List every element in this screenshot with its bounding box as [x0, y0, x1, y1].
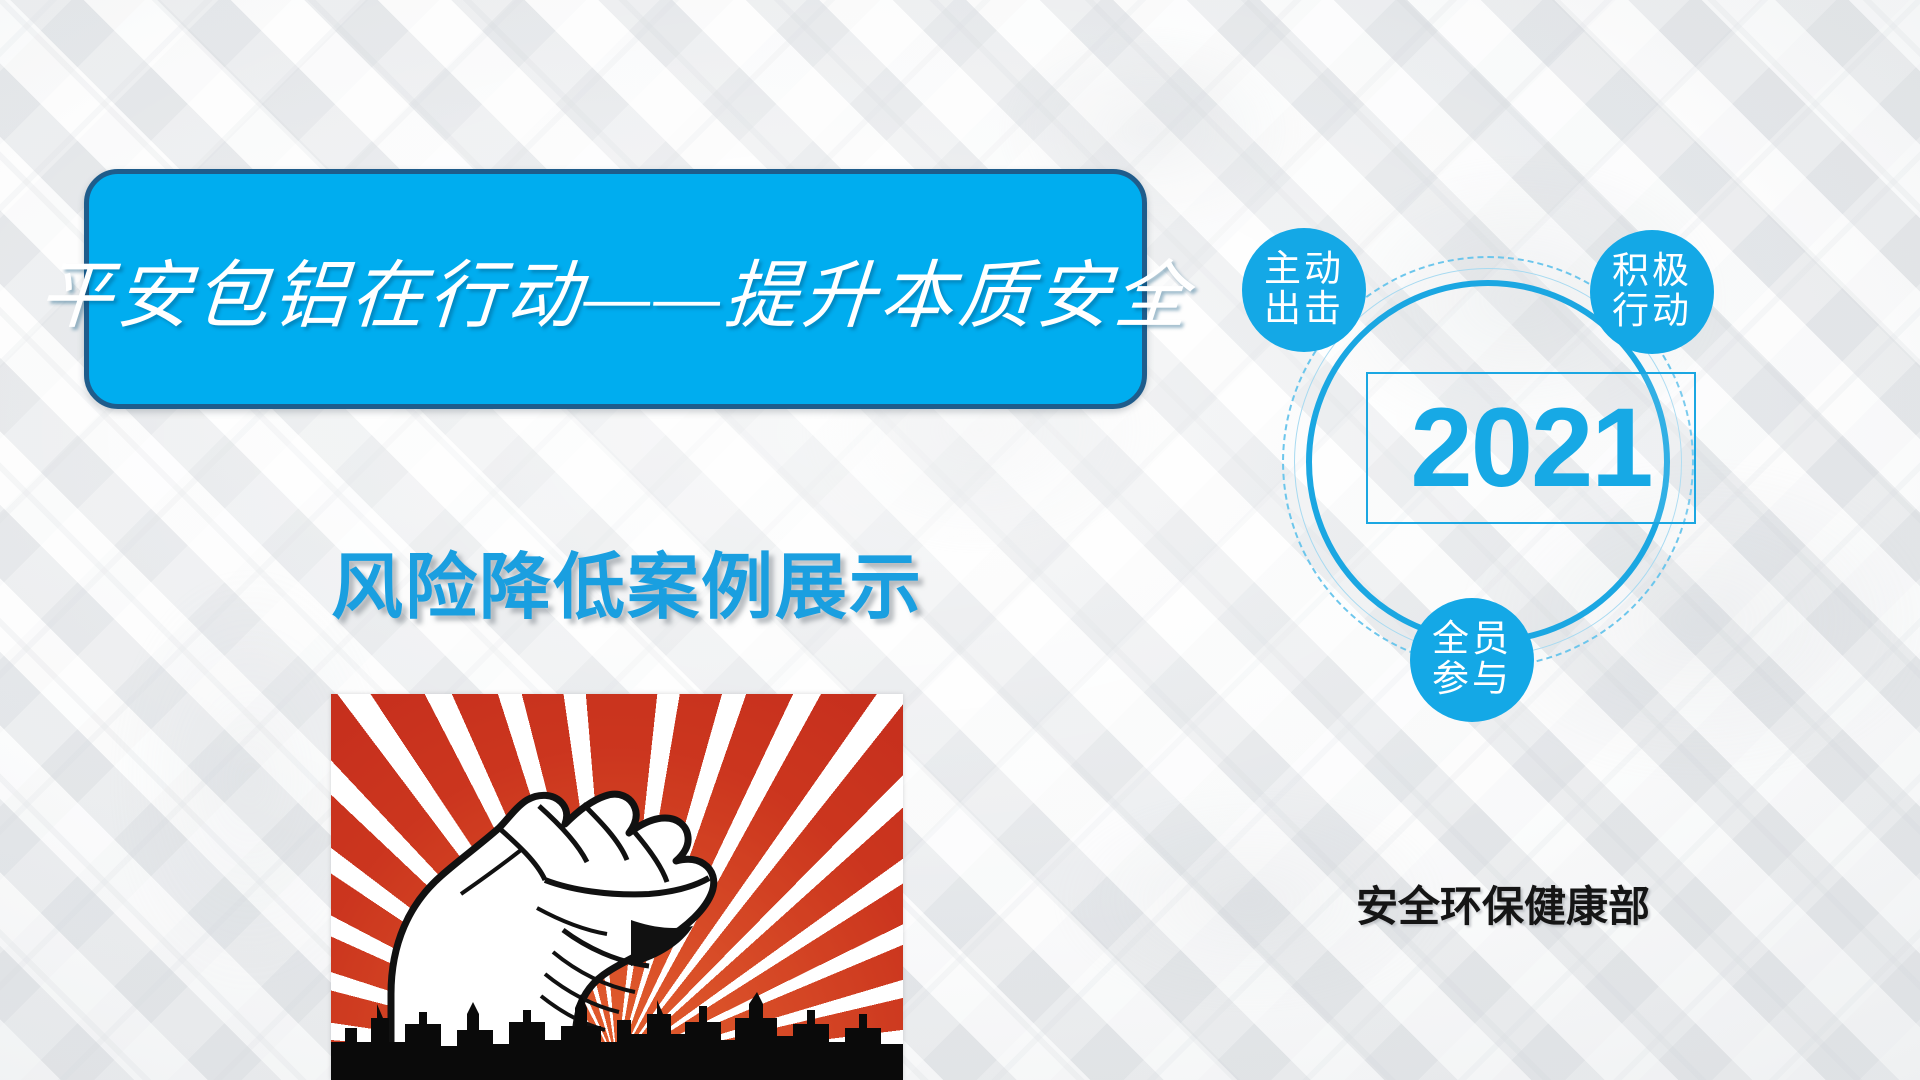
year-box: 2021: [1366, 372, 1696, 524]
bubble-b-line1: 全员: [1432, 620, 1512, 660]
subtitle: 风险降低案例展示: [331, 528, 923, 633]
bubble-b-line2: 参与: [1432, 660, 1512, 700]
title-banner: 平安包铝在行动——提升本质安全: [84, 169, 1147, 409]
department-label: 安全环保健康部: [1356, 873, 1650, 934]
city-skyline-silhouette: [331, 984, 903, 1080]
bubble-full-participation: 全员 参与: [1410, 598, 1534, 722]
bubble-proactive-strike: 主动 出击: [1242, 228, 1366, 352]
year-circle-graphic: 2021 主动 出击 积极 行动 全员 参与: [1278, 252, 1698, 672]
fist-poster-image: [331, 694, 903, 1080]
bubble-tr-line2: 行动: [1612, 292, 1692, 332]
bubble-active-action: 积极 行动: [1590, 230, 1714, 354]
presentation-slide: 平安包铝在行动——提升本质安全 风险降低案例展示: [0, 0, 1920, 1080]
bubble-tl-line2: 出击: [1264, 290, 1344, 330]
poster-inner: [331, 694, 903, 1080]
year-label: 2021: [1410, 392, 1651, 504]
page-title: 平安包铝在行动——提升本质安全: [35, 236, 1196, 343]
bubble-tl-line1: 主动: [1264, 250, 1344, 290]
bubble-tr-line1: 积极: [1612, 252, 1692, 292]
